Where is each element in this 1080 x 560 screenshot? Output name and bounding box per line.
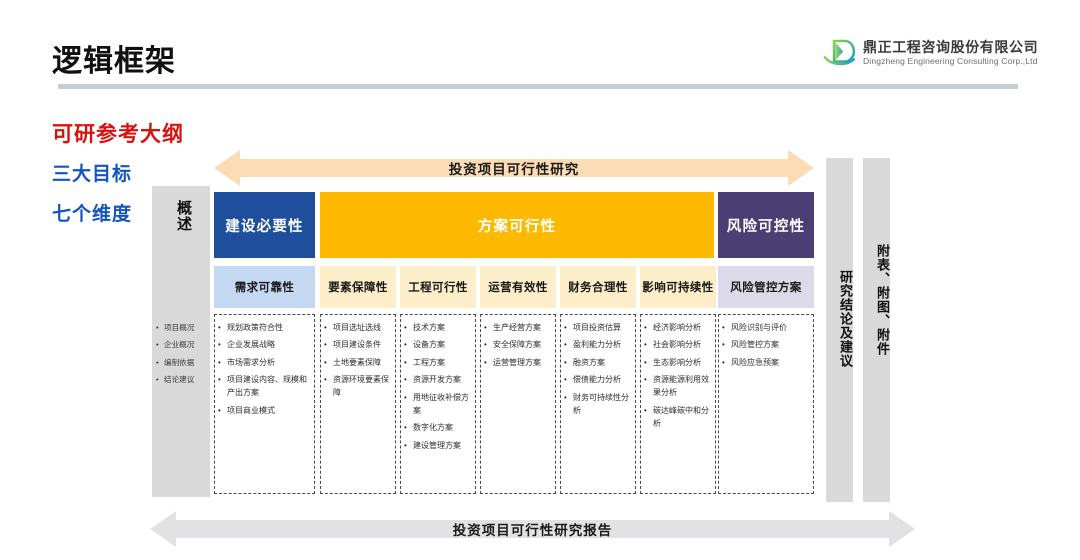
dimension-bullet-text: 工程方案 — [413, 357, 471, 370]
bullet-marker-icon: • — [404, 422, 413, 435]
dimension-bullet: •用地征收补偿方案 — [404, 392, 471, 418]
bullet-marker-icon: • — [644, 405, 653, 431]
bullet-marker-icon: • — [324, 357, 333, 370]
dimension-bullet-text: 项目选址选线 — [333, 322, 391, 335]
category-block-1: 建设必要性 — [214, 192, 315, 258]
bullet-marker-icon: • — [722, 357, 731, 370]
dimension-bullet: •建设管理方案 — [404, 440, 471, 453]
dimension-header-label: 财务合理性 — [568, 279, 628, 295]
dimension-content-box-3: •技术方案•设备方案•工程方案•资源开发方案•用地征收补偿方案•数字化方案•建设… — [400, 314, 476, 494]
dimension-bullet-text: 设备方案 — [413, 339, 471, 352]
overview-bullet-text: 项目概况 — [164, 322, 208, 334]
dimension-content-box-1: •规划政策符合性•企业发展战略•市场需求分析•项目建设内容、规模和产出方案•项目… — [214, 314, 315, 494]
dimension-bullet: •社会影响分析 — [644, 339, 711, 352]
dimension-header-label: 影响可持续性 — [642, 279, 713, 295]
overview-bullet-text: 企业概况 — [164, 339, 208, 351]
dimension-header-4: 运营有效性 — [480, 266, 556, 308]
bottom-arrow-banner: 投资项目可行性研究报告 — [150, 511, 915, 547]
dimension-bullet: •偿债能力分析 — [564, 374, 631, 387]
bullet-marker-icon: • — [404, 357, 413, 370]
overview-bullet: •结论建议 — [156, 374, 208, 386]
top-arrow-label: 投资项目可行性研究 — [214, 150, 814, 186]
overview-column: 概述 •项目概况•企业概况•编制依据•结论建议 — [152, 186, 210, 497]
overview-bullet-text: 结论建议 — [164, 374, 208, 386]
overview-bullet-text: 编制依据 — [164, 357, 208, 369]
overview-bullet: •企业概况 — [156, 339, 208, 351]
dimension-content-box-4: •生产经营方案•安全保障方案•运营管理方案 — [480, 314, 556, 494]
category-block-label: 方案可行性 — [478, 215, 557, 236]
bullet-marker-icon: • — [404, 339, 413, 352]
dimension-bullet: •运营管理方案 — [484, 357, 551, 370]
dimension-bullet: •规划政策符合性 — [218, 322, 310, 335]
dimension-bullet-text: 项目建设内容、规模和产出方案 — [227, 374, 310, 400]
dimension-content-box-2: •项目选址选线•项目建设条件•土地要素保障•资源环境要素保障 — [320, 314, 396, 494]
bullet-marker-icon: • — [218, 322, 227, 335]
dimension-bullet-text: 资源能源利用效果分析 — [653, 374, 711, 400]
dimension-bullet: •数字化方案 — [404, 422, 471, 435]
dimension-header-5: 财务合理性 — [560, 266, 636, 308]
overview-title: 概述 — [170, 200, 192, 232]
dimension-content-box-6: •经济影响分析•社会影响分析•生态影响分析•资源能源利用效果分析•碳达峰碳中和分… — [640, 314, 716, 494]
overview-bullet-list: •项目概况•企业概况•编制依据•结论建议 — [156, 322, 208, 391]
dimension-bullet-text: 用地征收补偿方案 — [413, 392, 471, 418]
bullet-marker-icon: • — [324, 339, 333, 352]
dimension-bullet-text: 风险识别与评价 — [731, 322, 809, 335]
bullet-marker-icon: • — [722, 322, 731, 335]
bullet-marker-icon: • — [156, 357, 164, 369]
dimension-bullet-text: 数字化方案 — [413, 422, 471, 435]
dimension-bullet-text: 碳达峰碳中和分析 — [653, 405, 711, 431]
dimension-header-label: 需求可靠性 — [235, 279, 295, 295]
dimension-bullet: •项目商业模式 — [218, 405, 310, 418]
dimension-bullet-text: 运营管理方案 — [493, 357, 551, 370]
dimension-bullet: •项目选址选线 — [324, 322, 391, 335]
dimension-bullet-text: 融资方案 — [573, 357, 631, 370]
bullet-marker-icon: • — [564, 339, 573, 352]
bullet-marker-icon: • — [218, 357, 227, 370]
bullet-marker-icon: • — [484, 339, 493, 352]
dimension-bullet: •生产经营方案 — [484, 322, 551, 335]
bullet-marker-icon: • — [644, 374, 653, 400]
bullet-marker-icon: • — [564, 357, 573, 370]
dimension-bullet: •工程方案 — [404, 357, 471, 370]
dimension-header-1: 需求可靠性 — [214, 266, 315, 308]
dimension-bullet-text: 盈利能力分析 — [573, 339, 631, 352]
dimension-bullet: •企业发展战略 — [218, 339, 310, 352]
dimension-bullet-text: 资源开发方案 — [413, 374, 471, 387]
dimension-bullet-text: 风险应急预案 — [731, 357, 809, 370]
bullet-marker-icon: • — [722, 339, 731, 352]
dimension-bullet-text: 生产经营方案 — [493, 322, 551, 335]
bullet-marker-icon: • — [404, 392, 413, 418]
bullet-marker-icon: • — [324, 322, 333, 335]
dimension-bullet-text: 建设管理方案 — [413, 440, 471, 453]
dimension-bullet-text: 安全保障方案 — [493, 339, 551, 352]
dimension-bullet-text: 企业发展战略 — [227, 339, 310, 352]
dimension-bullet-text: 社会影响分析 — [653, 339, 711, 352]
dimension-bullet-text: 技术方案 — [413, 322, 471, 335]
dimension-bullet-text: 资源环境要素保障 — [333, 374, 391, 400]
overview-bullet: •项目概况 — [156, 322, 208, 334]
dimension-header-3: 工程可行性 — [400, 266, 476, 308]
bullet-marker-icon: • — [644, 339, 653, 352]
bullet-marker-icon: • — [644, 357, 653, 370]
bottom-arrow-label: 投资项目可行性研究报告 — [150, 511, 915, 547]
dimension-bullet: •设备方案 — [404, 339, 471, 352]
dimension-bullet: •融资方案 — [564, 357, 631, 370]
bullet-marker-icon: • — [404, 440, 413, 453]
dimension-bullet-text: 经济影响分析 — [653, 322, 711, 335]
dimension-bullet: •资源开发方案 — [404, 374, 471, 387]
dimension-bullet-text: 项目投资估算 — [573, 322, 631, 335]
dimension-bullet: •生态影响分析 — [644, 357, 711, 370]
dimension-header-label: 工程可行性 — [408, 279, 468, 295]
dimension-bullet: •市场需求分析 — [218, 357, 310, 370]
bullet-marker-icon: • — [324, 374, 333, 400]
bullet-marker-icon: • — [484, 357, 493, 370]
bullet-marker-icon: • — [564, 392, 573, 418]
dimension-header-6: 影响可持续性 — [640, 266, 716, 308]
dimension-bullet-text: 风险管控方案 — [731, 339, 809, 352]
bullet-marker-icon: • — [156, 339, 164, 351]
dimension-bullet: •碳达峰碳中和分析 — [644, 405, 711, 431]
dimension-bullet: •技术方案 — [404, 322, 471, 335]
category-block-label: 风险可控性 — [727, 215, 806, 236]
bullet-marker-icon: • — [156, 322, 164, 334]
dimension-bullet-text: 财务可持续性分析 — [573, 392, 631, 418]
dimension-bullet: •风险管控方案 — [722, 339, 809, 352]
dimension-bullet: •项目投资估算 — [564, 322, 631, 335]
bullet-marker-icon: • — [564, 374, 573, 387]
bullet-marker-icon: • — [218, 374, 227, 400]
dimension-bullet: •财务可持续性分析 — [564, 392, 631, 418]
bullet-marker-icon: • — [218, 339, 227, 352]
bullet-marker-icon: • — [404, 374, 413, 387]
dimension-content-box-7: •风险识别与评价•风险管控方案•风险应急预案 — [718, 314, 814, 494]
dimension-bullet: •土地要素保障 — [324, 357, 391, 370]
bullet-marker-icon: • — [484, 322, 493, 335]
appendix-column-label: 附表、附图、附件 — [863, 244, 890, 356]
appendix-column: 附表、附图、附件 — [863, 158, 890, 502]
dimension-bullet: •安全保障方案 — [484, 339, 551, 352]
overview-bullet: •编制依据 — [156, 357, 208, 369]
bullet-marker-icon: • — [564, 322, 573, 335]
dimension-bullet: •风险应急预案 — [722, 357, 809, 370]
conclusion-column: 研究结论及建议 — [826, 158, 853, 502]
dimension-content-box-5: •项目投资估算•盈利能力分析•融资方案•偿债能力分析•财务可持续性分析 — [560, 314, 636, 494]
dimension-bullet-text: 生态影响分析 — [653, 357, 711, 370]
dimension-header-label: 要素保障性 — [328, 279, 388, 295]
dimension-bullet-text: 市场需求分析 — [227, 357, 310, 370]
dimension-bullet: •资源能源利用效果分析 — [644, 374, 711, 400]
dimension-header-7: 风险管控方案 — [718, 266, 814, 308]
dimension-bullet: •资源环境要素保障 — [324, 374, 391, 400]
category-block-label: 建设必要性 — [225, 215, 304, 236]
bullet-marker-icon: • — [218, 405, 227, 418]
logic-framework-diagram: 投资项目可行性研究 概述 •项目概况•企业概况•编制依据•结论建议 建设必要性方… — [0, 0, 1080, 560]
conclusion-column-label: 研究结论及建议 — [826, 270, 853, 368]
dimension-header-2: 要素保障性 — [320, 266, 396, 308]
dimension-header-label: 运营有效性 — [488, 279, 548, 295]
dimension-bullet-text: 偿债能力分析 — [573, 374, 631, 387]
dimension-bullet-text: 规划政策符合性 — [227, 322, 310, 335]
dimension-bullet-text: 项目商业模式 — [227, 405, 310, 418]
dimension-bullet: •项目建设条件 — [324, 339, 391, 352]
category-block-3: 风险可控性 — [718, 192, 814, 258]
dimension-bullet: •风险识别与评价 — [722, 322, 809, 335]
bullet-marker-icon: • — [404, 322, 413, 335]
dimension-bullet-text: 土地要素保障 — [333, 357, 391, 370]
dimension-bullet: •盈利能力分析 — [564, 339, 631, 352]
dimension-header-label: 风险管控方案 — [730, 279, 801, 295]
dimension-bullet: •项目建设内容、规模和产出方案 — [218, 374, 310, 400]
top-arrow-banner: 投资项目可行性研究 — [214, 150, 814, 186]
bullet-marker-icon: • — [644, 322, 653, 335]
dimension-bullet: •经济影响分析 — [644, 322, 711, 335]
dimension-bullet-text: 项目建设条件 — [333, 339, 391, 352]
category-block-2: 方案可行性 — [320, 192, 714, 258]
bullet-marker-icon: • — [156, 374, 164, 386]
